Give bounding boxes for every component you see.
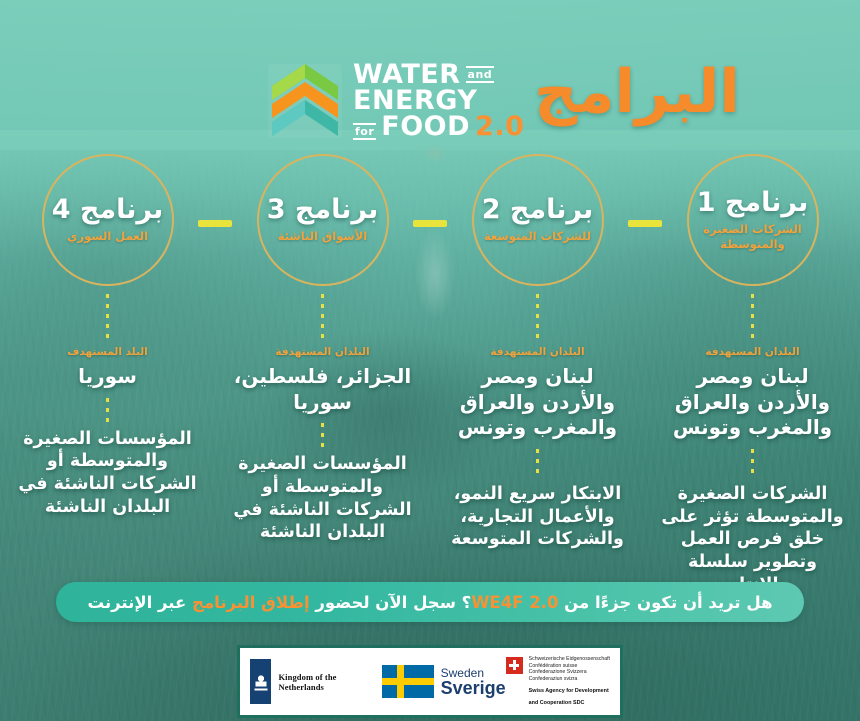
program-subtitle: للشركات المتوسعة bbox=[484, 229, 591, 243]
cta-text: هل تريد أن تكون جزءًا من WE4F 2.0؟ سجل ا… bbox=[87, 593, 772, 612]
swiss-label-de: Schweizerische Eidgenossenschaft bbox=[529, 656, 610, 663]
program-circle-2[interactable]: برنامج 2 للشركات المتوسعة bbox=[472, 154, 604, 286]
infographic-poster: WATER and ENERGY for FOOD 2.0 البرامج بر… bbox=[0, 0, 860, 721]
dotted-connector-mid bbox=[106, 398, 109, 424]
program-column-4: برنامج 4 العمل السوري البلد المستهدف سور… bbox=[0, 148, 215, 721]
program-column-1: برنامج 1 الشركات الصغيرة والمتوسطة البلد… bbox=[645, 148, 860, 721]
dotted-connector-top bbox=[536, 294, 539, 342]
program-title: برنامج 1 bbox=[697, 189, 809, 217]
program-description: المؤسسات الصغيرة والمتوسطة أو الشركات ال… bbox=[0, 428, 215, 519]
program-title: برنامج 3 bbox=[267, 196, 379, 224]
cta-banner[interactable]: هل تريد أن تكون جزءًا من WE4F 2.0؟ سجل ا… bbox=[56, 582, 804, 622]
connector-dash bbox=[413, 220, 447, 227]
cta-part-2: ؟ سجل الآن لحضور bbox=[310, 593, 472, 612]
dotted-connector-top bbox=[106, 294, 109, 342]
swiss-label-it: Confederazione Svizzera bbox=[529, 669, 610, 676]
we4f-logo: WATER and ENERGY for FOOD 2.0 bbox=[268, 62, 524, 141]
connector-dash bbox=[628, 220, 662, 227]
netherlands-logo: Kingdom of the Netherlands bbox=[250, 659, 382, 704]
dotted-connector-mid bbox=[751, 449, 754, 479]
cta-highlight-launch: إطلاق البرنامج bbox=[192, 593, 310, 612]
countries-text: الجزائر، فلسطين، سوريا bbox=[215, 364, 430, 415]
sweden-flag-icon bbox=[382, 665, 434, 698]
logo-for: for bbox=[353, 123, 376, 140]
program-description: الابتكار سريع النمو، والأعمال التجارية، … bbox=[430, 483, 645, 551]
countries-label: البلد المستهدف bbox=[67, 346, 148, 358]
countries-text: لبنان ومصر والأردن والعراق والمغرب وتونس bbox=[645, 364, 860, 441]
countries-text: لبنان ومصر والأردن والعراق والمغرب وتونس bbox=[430, 364, 645, 441]
sweden-label-en: Sweden bbox=[441, 667, 506, 679]
program-description: الشركات الصغيرة والمتوسطة تؤثر على خلق ف… bbox=[645, 483, 860, 597]
countries-label: البلدان المستهدفة bbox=[275, 346, 369, 358]
dotted-connector-top bbox=[321, 294, 324, 342]
we4f-chevron-logo-icon bbox=[268, 64, 342, 138]
program-circle-3[interactable]: برنامج 3 الأسواق الناشئة bbox=[257, 154, 389, 286]
logo-and: and bbox=[466, 66, 495, 83]
program-column-2: برنامج 2 للشركات المتوسعة البلدان المسته… bbox=[430, 148, 645, 721]
swiss-label-rm: Confederaziun svizra bbox=[529, 676, 610, 683]
program-circle-4[interactable]: برنامج 4 العمل السوري bbox=[42, 154, 174, 286]
sweden-wordmark: Sweden Sverige bbox=[441, 667, 506, 697]
sweden-logo: Sweden Sverige bbox=[382, 665, 506, 698]
program-subtitle: الأسواق الناشئة bbox=[278, 229, 368, 243]
swiss-label-fr: Confédération suisse bbox=[529, 663, 610, 670]
logo-version: 2.0 bbox=[475, 114, 524, 140]
connector-dash bbox=[198, 220, 232, 227]
dotted-connector-mid bbox=[321, 423, 324, 449]
program-subtitle: العمل السوري bbox=[67, 229, 148, 243]
logo-line-food: FOOD bbox=[381, 114, 470, 140]
cta-part-1: هل تريد أن تكون جزءًا من bbox=[558, 593, 772, 612]
we4f-wordmark: WATER and ENERGY for FOOD 2.0 bbox=[353, 62, 524, 141]
cta-highlight-we4f: WE4F 2.0 bbox=[471, 593, 558, 612]
page-title: البرامج bbox=[534, 62, 740, 122]
program-circle-1[interactable]: برنامج 1 الشركات الصغيرة والمتوسطة bbox=[687, 154, 819, 286]
netherlands-label: Kingdom of the Netherlands bbox=[278, 672, 381, 692]
donor-logos-bar: Kingdom of the Netherlands Sweden Sverig… bbox=[237, 645, 623, 718]
switzerland-logo: Schweizerische Eidgenossenschaft Confédé… bbox=[506, 656, 610, 708]
program-subtitle: الشركات الصغيرة والمتوسطة bbox=[699, 222, 807, 251]
sweden-label-sv: Sverige bbox=[441, 679, 506, 697]
dotted-connector-top bbox=[751, 294, 754, 342]
cta-part-3: عبر الإنترنت bbox=[87, 593, 192, 612]
sdc-label-line2: and Cooperation SDC bbox=[529, 700, 610, 707]
programs-row: برنامج 1 الشركات الصغيرة والمتوسطة البلد… bbox=[0, 148, 860, 721]
program-description: المؤسسات الصغيرة والمتوسطة أو الشركات ال… bbox=[215, 453, 430, 544]
header: WATER and ENERGY for FOOD 2.0 البرامج bbox=[0, 28, 860, 138]
dotted-connector-mid bbox=[536, 449, 539, 479]
sdc-label-line1: Swiss Agency for Development bbox=[529, 688, 610, 695]
program-title: برنامج 2 bbox=[482, 196, 594, 224]
switzerland-wordmark: Schweizerische Eidgenossenschaft Confédé… bbox=[529, 656, 610, 708]
netherlands-coat-of-arms-icon bbox=[250, 659, 271, 704]
program-title: برنامج 4 bbox=[52, 196, 164, 224]
program-column-3: برنامج 3 الأسواق الناشئة البلدان المستهد… bbox=[215, 148, 430, 721]
countries-label: البلدان المستهدفة bbox=[490, 346, 584, 358]
countries-text: سوريا bbox=[64, 364, 151, 390]
countries-label: البلدان المستهدفة bbox=[705, 346, 799, 358]
swiss-cross-flag-icon bbox=[506, 657, 523, 674]
